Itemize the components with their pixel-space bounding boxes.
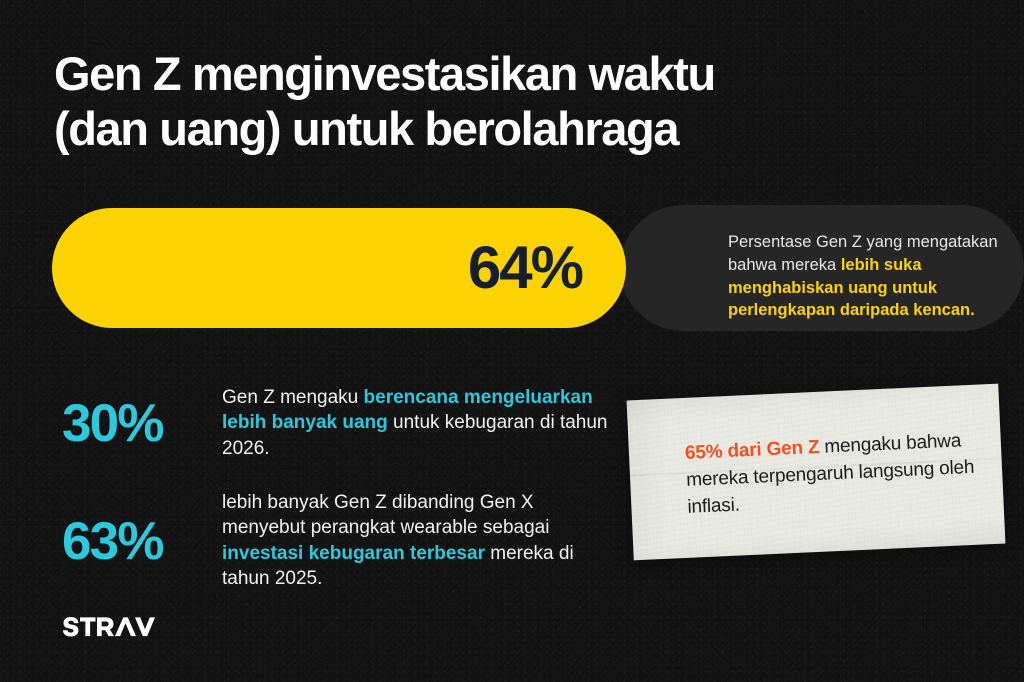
page-title-line-2: (dan uang) untuk berolahraga	[54, 102, 954, 157]
paper-note-highlight: 65% dari Gen Z	[685, 437, 820, 464]
stat-copy-30: Gen Z mengaku berencana mengeluarkan leb…	[222, 383, 622, 461]
stat-copy-63: lebih banyak Gen Z dibanding Gen X menye…	[222, 488, 622, 591]
page-title: Gen Z menginvestasikan waktu (dan uang) …	[54, 47, 954, 156]
stat-value-30: 30%	[62, 383, 222, 450]
stat-value-63: 63%	[62, 488, 222, 568]
paper-note-card: 65% dari Gen Z mengaku bahwa mereka terp…	[627, 384, 1006, 561]
hero-caption-text: Persentase Gen Z yang mengatakan bahwa m…	[728, 231, 1018, 322]
paper-note-text: 65% dari Gen Z mengaku bahwa mereka terp…	[684, 428, 977, 522]
stat-row-30: 30% Gen Z mengaku berencana mengeluarkan…	[62, 383, 622, 461]
hero-stat-pill: 64%	[52, 208, 626, 328]
hero-caption-card: Persentase Gen Z yang mengatakan bahwa m…	[620, 205, 1024, 331]
page-title-line-1: Gen Z menginvestasikan waktu	[54, 47, 954, 102]
infographic-poster: Gen Z menginvestasikan waktu (dan uang) …	[0, 0, 1024, 682]
stat-copy-30-plain-1: Gen Z mengaku	[222, 387, 364, 408]
hero-stat-value: 64%	[468, 238, 582, 298]
stat-row-63: 63% lebih banyak Gen Z dibanding Gen X m…	[62, 488, 622, 591]
hero-stat-row: Persentase Gen Z yang mengatakan bahwa m…	[52, 205, 972, 331]
stat-copy-63-plain-1: lebih banyak Gen Z dibanding Gen X menye…	[222, 492, 549, 538]
strava-logo	[62, 613, 158, 639]
stat-copy-63-highlight: investasi kebugaran terbesar	[222, 543, 485, 564]
strava-wordmark-icon	[62, 615, 158, 637]
